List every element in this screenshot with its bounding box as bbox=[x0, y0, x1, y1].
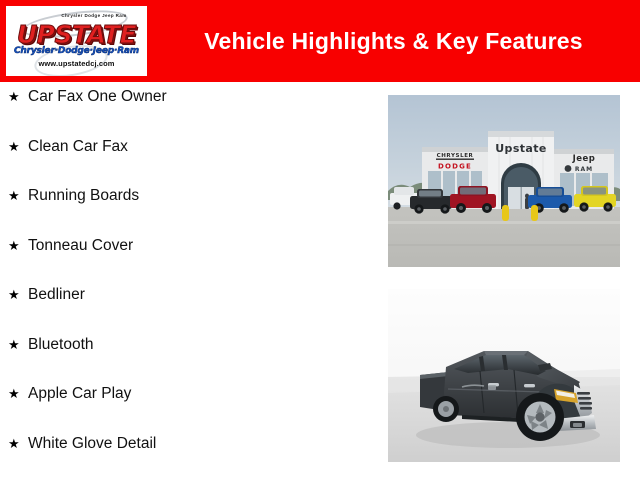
svg-text:Upstate: Upstate bbox=[495, 142, 547, 155]
truck-studio-photo[interactable] bbox=[388, 289, 620, 462]
star-bullet-icon: ★ bbox=[8, 189, 28, 202]
logo-brandline-text: Chrysler Dodge Jeep Ram bbox=[58, 13, 130, 18]
feature-label: White Glove Detail bbox=[28, 435, 156, 453]
dealership-exterior-photo[interactable]: CHRYSLER DODGE Upstate Jeep bbox=[388, 95, 620, 267]
list-item: ★ Tonneau Cover bbox=[0, 237, 380, 287]
feature-label: Car Fax One Owner bbox=[28, 88, 167, 106]
svg-text:CHRYSLER: CHRYSLER bbox=[437, 153, 474, 159]
svg-text:RAM: RAM bbox=[575, 166, 593, 173]
star-bullet-icon: ★ bbox=[8, 437, 28, 450]
page-title: Vehicle Highlights & Key Features bbox=[147, 0, 640, 82]
logo-website-url: www.upstatedcj.com bbox=[6, 60, 147, 68]
star-bullet-icon: ★ bbox=[8, 288, 28, 301]
truck-photo-artwork bbox=[388, 289, 620, 462]
svg-text:Jeep: Jeep bbox=[572, 154, 596, 164]
list-item: ★ White Glove Detail bbox=[0, 435, 380, 484]
list-item: ★ Clean Car Fax bbox=[0, 138, 380, 188]
list-item: ★ Apple Car Play bbox=[0, 385, 380, 435]
logo-wordmark: UPSTATE bbox=[6, 22, 147, 47]
header-banner: Chrysler Dodge Jeep Ram UPSTATE Chrysler… bbox=[0, 0, 640, 82]
star-bullet-icon: ★ bbox=[8, 338, 28, 351]
feature-label: Apple Car Play bbox=[28, 385, 131, 403]
logo-subtitle: Chrysler·Dodge·Jeep·Ram bbox=[6, 47, 147, 56]
feature-label: Running Boards bbox=[28, 187, 139, 205]
feature-label: Tonneau Cover bbox=[28, 237, 133, 255]
svg-text:DODGE: DODGE bbox=[438, 163, 472, 171]
star-bullet-icon: ★ bbox=[8, 140, 28, 153]
list-item: ★ Bluetooth bbox=[0, 336, 380, 386]
feature-label: Bluetooth bbox=[28, 336, 94, 354]
star-bullet-icon: ★ bbox=[8, 387, 28, 400]
star-bullet-icon: ★ bbox=[8, 239, 28, 252]
feature-label: Clean Car Fax bbox=[28, 138, 128, 156]
list-item: ★ Bedliner bbox=[0, 286, 380, 336]
star-bullet-icon: ★ bbox=[8, 90, 28, 103]
list-item: ★ Car Fax One Owner bbox=[0, 88, 380, 138]
list-item: ★ Running Boards bbox=[0, 187, 380, 237]
dealer-logo[interactable]: Chrysler Dodge Jeep Ram UPSTATE Chrysler… bbox=[6, 6, 147, 76]
logo-artwork: Chrysler Dodge Jeep Ram UPSTATE Chrysler… bbox=[6, 6, 147, 76]
feature-list: ★ Car Fax One Owner ★ Clean Car Fax ★ Ru… bbox=[0, 88, 380, 484]
dealership-photo-artwork: CHRYSLER DODGE Upstate Jeep bbox=[388, 95, 620, 267]
feature-label: Bedliner bbox=[28, 286, 85, 304]
